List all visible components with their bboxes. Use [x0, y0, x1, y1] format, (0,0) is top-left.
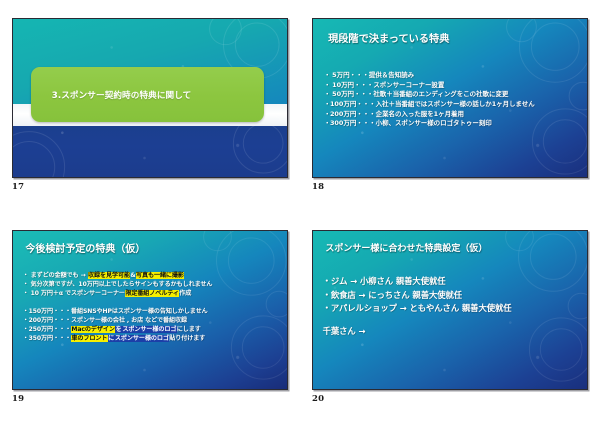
- run-highlight-yellow: Macのデザイン: [71, 326, 115, 333]
- slide-wrapper-18[interactable]: 現段階で決まっている特典 ・ 5万円・・・提供＆告知読み ・ 10万円・・・スポ…: [312, 18, 588, 178]
- slide-cell-17: 3.スポンサー契約時の特典に関して 17: [0, 0, 300, 212]
- bullet-line: ・ 気分次第ですが、10万円以上でしたらサインもするかもしれません: [23, 280, 213, 289]
- bullet-marker: ・: [323, 303, 331, 313]
- run-plain: 350万円・・・: [29, 335, 71, 342]
- bullet-line: ・ジム → 小柳さん 親善大使就任: [323, 275, 512, 289]
- bullet-line: ・ 5万円・・・提供＆告知読み: [324, 71, 535, 81]
- bullet-line: ・200万円・・・スポンサー様の会社 , お店 などで番組収録: [23, 316, 213, 325]
- bullet-line: ・200万円・・・企業名の入った服を1ヶ月着用: [324, 110, 535, 120]
- run-plain: 150万円・・・番組SNSやHPはスポンサー様の告知しかしません: [29, 308, 208, 315]
- slide-cell-18: 現段階で決まっている特典 ・ 5万円・・・提供＆告知読み ・ 10万円・・・スポ…: [300, 0, 600, 212]
- bullet-line: ・100万円・・・入社＋当番組ではスポンサー様の話しか1ヶ月しません: [324, 100, 535, 110]
- bullet-text: 5万円・・・提供＆告知読み: [330, 71, 414, 79]
- bullet-line: ・ まずどの金額でも → 収録を見学可能&写真も一緒に撮影: [23, 271, 213, 280]
- run-plain: 10 万円＋α でスポンサーコーナー: [29, 290, 125, 297]
- slide-title: 現段階で決まっている特典: [328, 30, 449, 45]
- slide-number-18: 18: [312, 182, 324, 192]
- bullet-text: 飲食店 → にっちさん 親善大使就任: [331, 290, 462, 300]
- bullet-marker: ・: [323, 290, 331, 300]
- bullet-line: 千葉さん →: [323, 325, 512, 339]
- background-band-bottom: [13, 126, 287, 177]
- slide-cell-19: 今後検討予定の特典（仮） ・ まずどの金額でも → 収録を見学可能&写真も一緒に…: [0, 212, 300, 424]
- bullet-text: アパレルショップ → ともやんさん 親善大使就任: [331, 303, 512, 313]
- run-plain: 250万円・・・: [29, 326, 71, 333]
- slide-wrapper-20[interactable]: スポンサー様に合わせた特典設定（仮） ・ジム → 小柳さん 親善大使就任 ・飲食…: [312, 230, 588, 390]
- slide-number-20: 20: [312, 394, 324, 404]
- bullet-line: ・300万円・・・小柳、スポンサー様のロゴタトゥー刻印: [324, 119, 535, 129]
- bullet-text: 100万円・・・入社＋当番組ではスポンサー様の話しか1ヶ月しません: [330, 100, 535, 108]
- slide-title: スポンサー様に合わせた特典設定（仮）: [325, 241, 487, 254]
- slide-body: ・ まずどの金額でも → 収録を見学可能&写真も一緒に撮影 ・ 気分次第ですが、…: [23, 271, 213, 343]
- bullet-line: ・250万円・・・Macのデザインをスポンサー様のロゴにします: [23, 325, 213, 334]
- bullet-line: ・ 10 万円＋α でスポンサーコーナー限定番組ノベルティ作成: [23, 289, 213, 298]
- bullet-line: ・アパレルショップ → ともやんさん 親善大使就任: [323, 302, 512, 316]
- slide-18[interactable]: 現段階で決まっている特典 ・ 5万円・・・提供＆告知読み ・ 10万円・・・スポ…: [312, 18, 588, 178]
- slide-title-box: 3.スポンサー契約時の特典に関して: [31, 67, 264, 122]
- slide-cell-20: スポンサー様に合わせた特典設定（仮） ・ジム → 小柳さん 親善大使就任 ・飲食…: [300, 212, 600, 424]
- run-plain: 貼り付けます: [169, 335, 205, 342]
- slide-body: ・ジム → 小柳さん 親善大使就任 ・飲食店 → にっちさん 親善大使就任 ・ア…: [323, 275, 512, 338]
- run-plain: &: [130, 272, 135, 279]
- run-plain: まずどの金額でも →: [29, 272, 88, 279]
- run-highlight-blue: スポンサー様のロゴ: [115, 335, 170, 342]
- slide-number-17: 17: [12, 182, 24, 192]
- run-highlight-blue: スポンサー様のロゴ: [122, 326, 177, 333]
- bullet-line: ・ 10万円・・・スポンサーコーナー設置: [324, 81, 535, 91]
- run-plain: 気分次第ですが、10万円以上でしたらサインもするかもしれません: [29, 281, 213, 288]
- slide-17[interactable]: 3.スポンサー契約時の特典に関して: [12, 18, 288, 178]
- slide-20[interactable]: スポンサー様に合わせた特典設定（仮） ・ジム → 小柳さん 親善大使就任 ・飲食…: [312, 230, 588, 390]
- run-plain: 作成: [179, 290, 191, 297]
- bullet-text: 10万円・・・スポンサーコーナー設置: [330, 81, 444, 89]
- slide-body: ・ 5万円・・・提供＆告知読み ・ 10万円・・・スポンサーコーナー設置 ・ 5…: [324, 71, 535, 129]
- slide-19[interactable]: 今後検討予定の特典（仮） ・ まずどの金額でも → 収録を見学可能&写真も一緒に…: [12, 230, 288, 390]
- slide-title-box-text: 3.スポンサー契約時の特典に関して: [31, 89, 192, 101]
- run-highlight-yellow: 車のフロント: [71, 335, 108, 342]
- bullet-text: 千葉さん →: [323, 326, 366, 336]
- bullet-text: ジム → 小柳さん 親善大使就任: [331, 276, 446, 286]
- run-highlight-blue: を: [115, 326, 122, 333]
- run-highlight-yellow: 収録を見学可能: [88, 272, 131, 279]
- body-spacer: [323, 316, 512, 325]
- bullet-line: ・150万円・・・番組SNSやHPはスポンサー様の告知しかしません: [23, 307, 213, 316]
- bullet-line: ・飲食店 → にっちさん 親善大使就任: [323, 289, 512, 303]
- bullet-marker: ・: [323, 276, 331, 286]
- bullet-line: ・ 50万円・・・社歌＋当番組のエンディングをこの社歌に変更: [324, 90, 535, 100]
- run-highlight-yellow: 限定番組ノベルティ: [125, 290, 179, 297]
- run-highlight-yellow: 写真も一緒に撮影: [136, 272, 185, 279]
- slide-number-19: 19: [12, 394, 24, 404]
- bullet-text: 50万円・・・社歌＋当番組のエンディングをこの社歌に変更: [330, 90, 508, 98]
- slide-wrapper-19[interactable]: 今後検討予定の特典（仮） ・ まずどの金額でも → 収録を見学可能&写真も一緒に…: [12, 230, 288, 390]
- run-plain: 200万円・・・スポンサー様の会社 , お店 などで番組収録: [29, 317, 187, 324]
- body-spacer: [23, 298, 213, 307]
- run-highlight-blue: に: [108, 335, 115, 342]
- bullet-text: 300万円・・・小柳、スポンサー様のロゴタトゥー刻印: [330, 119, 492, 127]
- slide-wrapper-17[interactable]: 3.スポンサー契約時の特典に関して: [12, 18, 288, 178]
- handout-sheet: 3.スポンサー契約時の特典に関して 17: [0, 0, 600, 424]
- bullet-text: 200万円・・・企業名の入った服を1ヶ月着用: [330, 110, 464, 118]
- run-plain: にします: [177, 326, 201, 333]
- bullet-line: ・350万円・・・車のフロントにスポンサー様のロゴ貼り付けます: [23, 334, 213, 343]
- slide-title: 今後検討予定の特典（仮）: [25, 240, 145, 255]
